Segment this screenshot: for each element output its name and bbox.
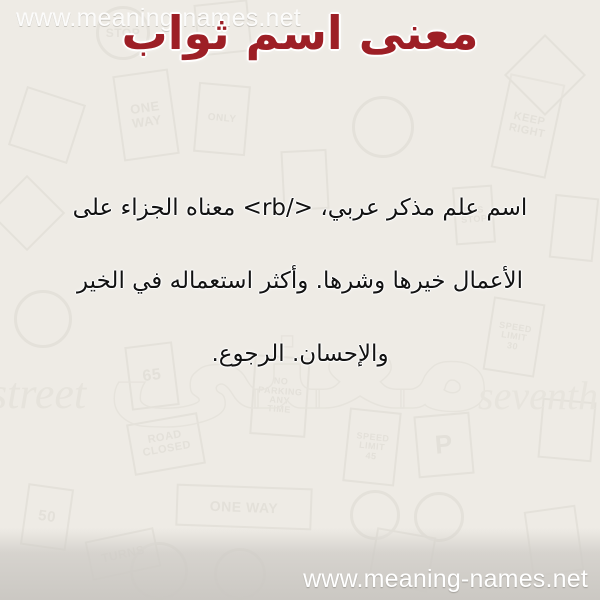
background-sign: ONE WAY (112, 69, 179, 162)
background-sign (352, 96, 414, 158)
background-sign (414, 492, 464, 542)
background-sign: ONE WAY (175, 484, 312, 531)
background-sign-label: 50 (37, 508, 57, 526)
background-sign: TURNS (85, 527, 162, 581)
background-sign (214, 548, 266, 600)
background-sign (537, 398, 596, 462)
background-sign-label: ONE WAY (210, 498, 279, 515)
meaning-line: الأعمال خيرها وشرها. وأكثر استعماله في ا… (30, 245, 570, 318)
background-sign-label: ONE WAY (129, 99, 162, 130)
name-meaning-card: ONE WAYONLYKEEP RIGHTSTOP65NO PARKING AN… (0, 0, 600, 600)
background-sign-label: ROAD CLOSED (140, 428, 192, 459)
background-sign: ROAD CLOSED (126, 412, 206, 476)
background-sign-label: ONLY (207, 113, 237, 126)
background-sign (350, 490, 400, 540)
name-meaning-text: اسم علم مذكر عربي، </rb> معناه الجزاء عل… (30, 172, 570, 391)
background-sign: ONLY (193, 82, 251, 156)
background-sign-label: KEEP RIGHT (508, 111, 549, 141)
background-sign: 50 (20, 483, 74, 551)
background-sign (130, 542, 188, 600)
page-title: معنى اسم ثواب (0, 6, 600, 60)
background-sign (8, 86, 86, 164)
background-sign-label: P (434, 431, 454, 460)
meaning-line: والإحسان. الرجوع. (30, 318, 570, 391)
background-sign: P (413, 412, 474, 479)
background-sign-label: SPEED LIMIT 45 (354, 431, 390, 463)
bottom-watermark: www.meaning-names.net (303, 565, 588, 594)
background-sign: SPEED LIMIT 45 (342, 407, 401, 486)
background-sign-label: TURNS (100, 543, 146, 564)
background-sign: KEEP RIGHT (491, 73, 566, 179)
meaning-line: اسم علم مذكر عربي، </rb> معناه الجزاء عل… (30, 172, 570, 245)
